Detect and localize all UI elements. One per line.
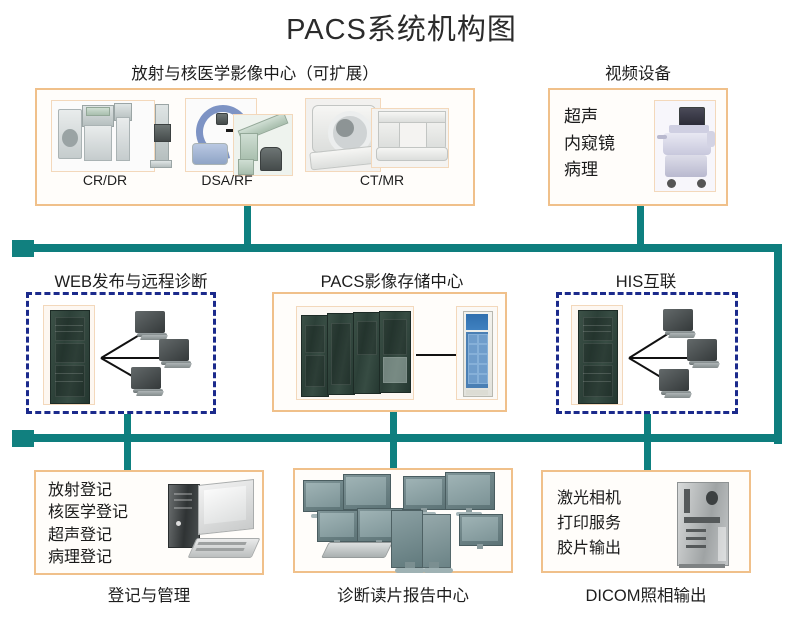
connector-video-equipment-to-bus (637, 206, 644, 248)
ct-mr-table-icon (371, 108, 449, 168)
registration-item: 病理登记 (48, 547, 128, 569)
dicom-output-box: 激光相机 打印服务 胶片输出 (541, 470, 751, 573)
video-equipment-caption: 视频设备 (548, 60, 728, 84)
registration-item: 核医学登记 (48, 502, 128, 524)
storage-cabinet-icon (456, 306, 498, 400)
client-monitor-icon (661, 309, 701, 339)
connector-bus-to-registration (124, 442, 131, 472)
cr-dr-machine-icon (51, 100, 155, 172)
client-monitor-icon (133, 311, 173, 341)
server-array-and-storage-cabinet-icon (296, 306, 414, 400)
connector-bus-to-reading-center (390, 442, 397, 470)
imaging-center-caption: 放射与核医学影像中心（可扩展） (35, 60, 475, 84)
his-interconnect-caption: HIS互联 (556, 268, 736, 292)
connector-bus-to-dicom-output (644, 442, 651, 472)
reading-center-caption: 诊断读片报告中心 (293, 582, 513, 606)
laser-film-printer-icon (669, 478, 739, 570)
registration-item: 超声登记 (48, 525, 128, 547)
modality-label-ct-mr: CT/MR (337, 172, 427, 188)
registration-item-list: 放射登记 核医学登记 超声登记 病理登记 (48, 480, 128, 569)
client-monitor-icon (157, 339, 197, 369)
storage-link (416, 354, 460, 356)
client-monitor-icon (657, 369, 697, 399)
cr-dr-detector-icon (154, 124, 171, 142)
connector-imaging-center-to-bus (244, 206, 251, 248)
video-equipment-item-list: 超声 内窥镜 病理 (564, 104, 615, 184)
video-equipment-item: 超声 (564, 104, 615, 131)
web-publishing-caption: WEB发布与远程诊断 (26, 268, 236, 292)
dicom-output-item: 胶片输出 (557, 536, 621, 561)
dicom-output-item: 激光相机 (557, 486, 621, 511)
modality-label-cr-dr: CR/DR (45, 172, 165, 188)
web-publishing-box (26, 292, 216, 414)
cr-dr-base-icon (150, 160, 172, 168)
his-interconnect-box (556, 292, 738, 414)
dicom-output-caption: DICOM照相输出 (541, 582, 751, 606)
video-equipment-item: 内窥镜 (564, 131, 615, 158)
pacs-storage-caption: PACS影像存储中心 (272, 268, 512, 292)
registration-caption: 登记与管理 (34, 582, 264, 606)
client-monitor-icon (129, 367, 169, 397)
multi-monitor-workstation-icon (295, 470, 515, 575)
bus-horizontal-bottom (30, 434, 782, 442)
dsa-rf-table-icon (233, 114, 293, 176)
page-title: PACS系统机构图 (0, 6, 803, 48)
pacs-storage-box (272, 292, 507, 412)
imaging-center-box: CR/DR DSA/RF CT/MR (35, 88, 475, 206)
desktop-pc-icon (164, 480, 260, 568)
server-rack-with-clients-icon (43, 305, 95, 405)
bus-vertical-right (774, 244, 782, 444)
ultrasound-cart-icon (654, 100, 716, 192)
ct-mr-scanner-icon (305, 98, 381, 172)
client-monitor-icon (685, 339, 725, 369)
video-equipment-item: 病理 (564, 157, 615, 184)
modality-label-dsa-rf: DSA/RF (182, 172, 272, 188)
network-link (101, 357, 163, 359)
registration-box: 放射登记 核医学登记 超声登记 病理登记 (34, 470, 264, 575)
registration-item: 放射登记 (48, 480, 128, 502)
bus-horizontal-top (30, 244, 782, 252)
dicom-output-item: 打印服务 (557, 511, 621, 536)
reading-center-box (293, 468, 513, 573)
server-rack-with-clients-icon (571, 305, 623, 405)
dicom-output-item-list: 激光相机 打印服务 胶片输出 (557, 486, 621, 562)
video-equipment-box: 超声 内窥镜 病理 (548, 88, 728, 206)
network-link (629, 357, 691, 359)
pacs-architecture-diagram: PACS系统机构图 放射与核医学影像中心（可扩展） CR/DR (0, 0, 803, 626)
